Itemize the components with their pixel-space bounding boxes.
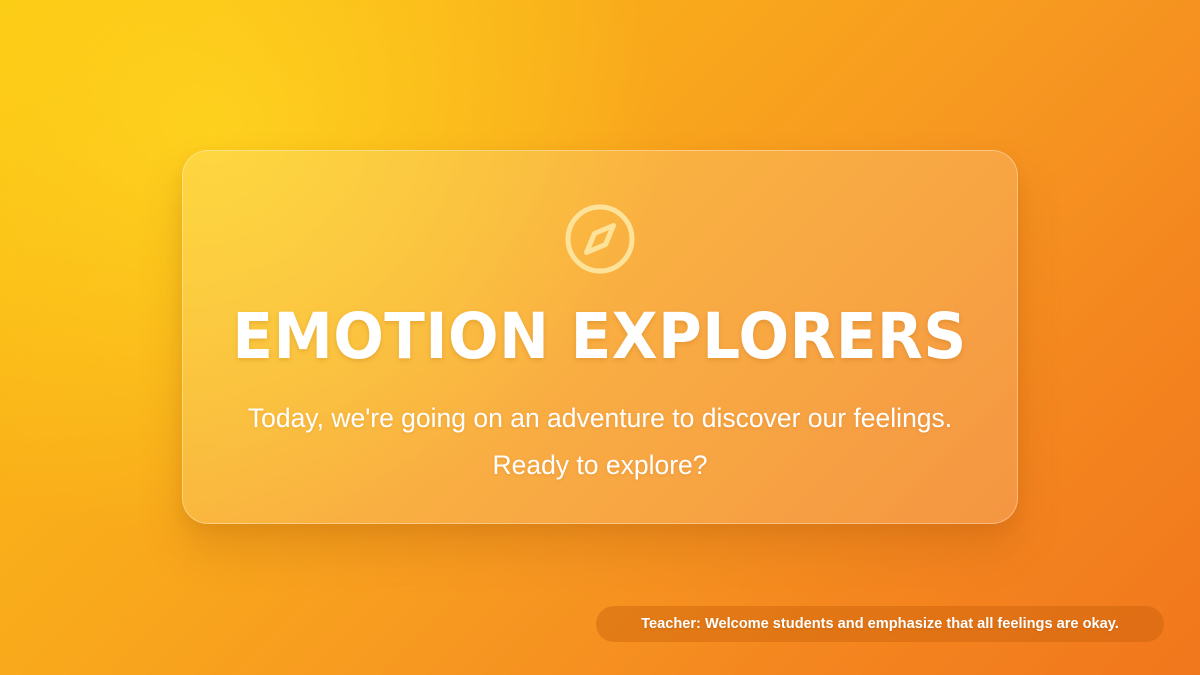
slide-canvas: EMOTION EXPLORERS Today, we're going on … [0,0,1200,675]
slide-subtitle: Today, we're going on an adventure to di… [240,395,960,489]
teacher-note-pill: Teacher: Welcome students and emphasize … [596,606,1164,642]
title-card: EMOTION EXPLORERS Today, we're going on … [182,150,1018,524]
compass-icon [564,203,636,275]
page-title: EMOTION EXPLORERS [233,305,967,368]
teacher-note-text: Teacher: Welcome students and emphasize … [641,617,1119,632]
